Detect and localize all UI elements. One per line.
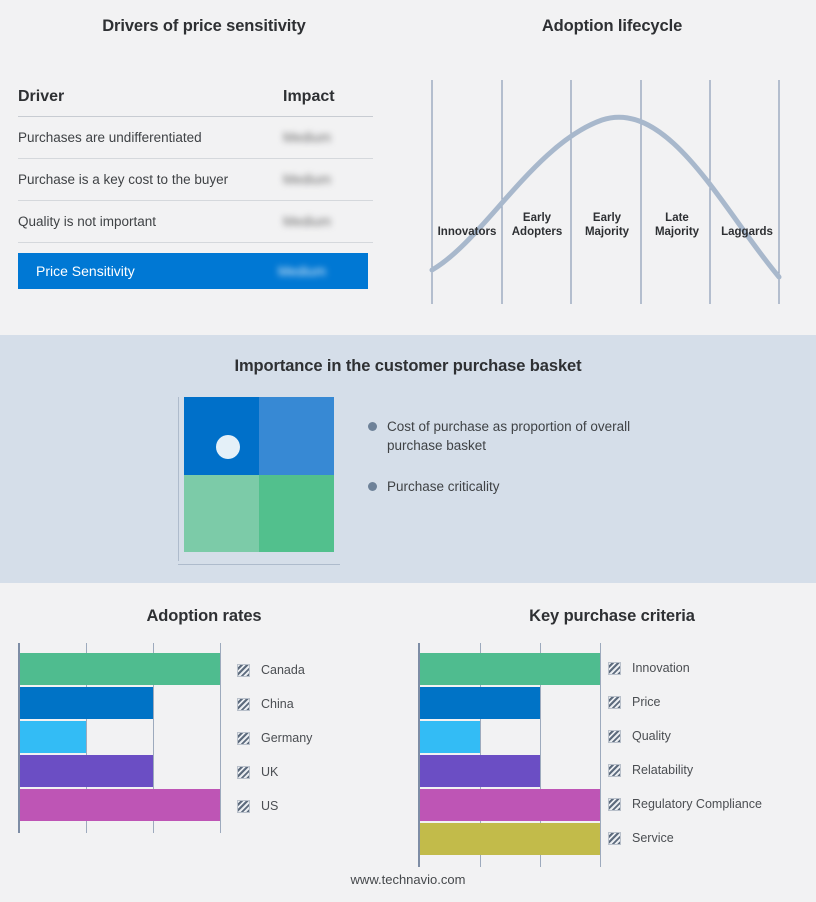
bar-canada [20,653,220,685]
bar-relatability [420,755,540,787]
legend-item: Service [608,821,762,855]
legend-item: Regulatory Compliance [608,787,762,821]
bar-track [420,755,605,787]
quadrant-x-axis [178,564,340,565]
bar-track [420,823,605,855]
bar-track [420,789,605,821]
infographic-page: Drivers of price sensitivity Driver Impa… [0,0,816,902]
drivers-table: Driver Impact Purchases are undifferenti… [18,88,373,289]
legend-item: Canada [237,653,312,687]
stage-line-2: Majority [642,225,712,239]
legend-item: Quality [608,719,762,753]
legend-item: Price [608,685,762,719]
legend-item-label: Price [632,695,660,709]
hatched-square-icon [608,662,621,675]
stage-line-2: Innovators [432,225,502,239]
bar-service [420,823,600,855]
plot-top-padding [420,643,605,653]
hatched-square-icon [608,730,621,743]
adoption-rates-title: Adoption rates [0,607,408,626]
impact-value-redacted: Medium [283,130,373,145]
legend-item-label: Innovation [632,661,690,675]
legend-item-label: Regulatory Compliance [632,797,762,811]
bar-innovation [420,653,600,685]
footer-url: www.technavio.com [0,872,816,887]
bar-china [20,687,153,719]
customer-purchase-basket-panel: Importance in the customer purchase bask… [0,335,816,583]
legend-item-label: Cost of purchase as proportion of overal… [387,417,658,455]
stage-line-1: Late [642,211,712,225]
criteria-plot-area [418,643,605,867]
legend-item-label: Canada [261,663,305,677]
legend-item-label: Germany [261,731,312,745]
drivers-table-header: Driver Impact [18,88,373,117]
adoption-lifecycle-curve-chart [424,72,804,312]
legend-item-label: Purchase criticality [387,477,500,496]
legend-item: Purchase criticality [368,477,658,496]
quadrant-top-right [259,397,334,475]
key-purchase-criteria-legend: Innovation Price Quality Relatability Re… [608,643,762,855]
adoption-rates-plot-area [18,643,225,833]
plot-top-padding [20,643,225,653]
bar-us [20,789,220,821]
bar-price [420,687,540,719]
key-purchase-criteria-bar-chart [418,643,603,867]
price-sensitivity-summary-row: Price Sensitivity Medium [18,253,368,289]
bar-track [420,687,605,719]
bar-uk [20,755,153,787]
lifecycle-stage-laggards: Laggards [712,200,782,242]
legend-item: Innovation [608,651,762,685]
drivers-panel-title: Drivers of price sensitivity [0,17,408,36]
stage-line-2: Majority [572,225,642,239]
quadrant-y-axis [178,397,179,561]
hatched-square-icon [608,798,621,811]
impact-value-redacted: Medium [283,172,373,187]
column-header-impact: Impact [283,88,373,106]
quadrant-bottom-left [184,475,259,553]
lifecycle-stage-early-majority: Early Majority [572,200,642,242]
purchase-basket-quadrant-chart [178,397,340,565]
drivers-of-price-sensitivity-panel: Drivers of price sensitivity Driver Impa… [0,0,408,335]
adoption-rates-legend: Canada China Germany UK US [237,643,312,823]
hatched-square-icon [608,832,621,845]
bar-track [420,721,605,753]
bullet-icon [368,482,377,491]
basket-panel-title: Importance in the customer purchase bask… [0,357,816,376]
driver-label: Purchases are undifferentiated [18,130,283,145]
legend-item: UK [237,755,312,789]
stage-line-1: Early [502,211,572,225]
quadrant-bottom-right [259,475,334,553]
legend-item-label: Relatability [632,763,693,777]
column-header-driver: Driver [18,88,283,106]
legend-item-label: UK [261,765,278,779]
legend-item-label: US [261,799,278,813]
key-purchase-criteria-panel: Key purchase criteria [408,583,816,873]
bar-regulatory-compliance [420,789,600,821]
hatched-square-icon [608,696,621,709]
basket-legend: Cost of purchase as proportion of overal… [368,417,658,518]
adoption-bell-curve [432,117,779,277]
legend-item-label: Quality [632,729,671,743]
key-purchase-criteria-title: Key purchase criteria [408,607,816,626]
hatched-square-icon [237,800,250,813]
price-sensitivity-label: Price Sensitivity [36,263,278,279]
driver-label: Purchase is a key cost to the buyer [18,172,283,187]
plot-bottom-padding [20,823,225,833]
quadrant-top-left [184,397,259,475]
stage-line-2: Adopters [502,225,572,239]
bar-track [20,653,225,685]
adoption-rates-bar-chart [18,643,223,833]
hatched-square-icon [608,764,621,777]
table-row: Purchases are undifferentiated Medium [18,117,373,159]
stage-line-2: Laggards [712,225,782,239]
bullet-icon [368,422,377,431]
lifecycle-stage-dividers [432,80,779,304]
legend-item: Relatability [608,753,762,787]
bar-germany [20,721,86,753]
legend-item: Germany [237,721,312,755]
hatched-square-icon [237,698,250,711]
bar-track [20,687,225,719]
legend-item-label: China [261,697,294,711]
lifecycle-stage-late-majority: Late Majority [642,200,712,242]
legend-item-label: Service [632,831,674,845]
hatched-square-icon [237,766,250,779]
table-row: Quality is not important Medium [18,201,373,243]
lifecycle-stage-early-adopters: Early Adopters [502,200,572,242]
hatched-square-icon [237,732,250,745]
stage-line-1: Early [572,211,642,225]
legend-item: US [237,789,312,823]
bar-track [20,789,225,821]
table-row: Purchase is a key cost to the buyer Medi… [18,159,373,201]
legend-item: China [237,687,312,721]
lifecycle-stage-labels: Innovators Early Adopters Early Majority… [432,200,782,242]
adoption-rates-panel: Adoption rates [0,583,408,873]
bar-track [20,755,225,787]
position-marker-dot [216,435,240,459]
bar-track [20,721,225,753]
hatched-square-icon [237,664,250,677]
impact-value-redacted: Medium [283,214,373,229]
lifecycle-stage-innovators: Innovators [432,200,502,242]
plot-bottom-padding [420,857,605,867]
adoption-lifecycle-panel: Adoption lifecycle Innovators Early Adop… [408,0,816,335]
legend-item: Cost of purchase as proportion of overal… [368,417,658,455]
quadrant-grid [184,397,334,552]
bar-track [420,653,605,685]
driver-label: Quality is not important [18,214,283,229]
price-sensitivity-impact-redacted: Medium [278,264,350,279]
lifecycle-panel-title: Adoption lifecycle [408,17,816,36]
bar-quality [420,721,480,753]
